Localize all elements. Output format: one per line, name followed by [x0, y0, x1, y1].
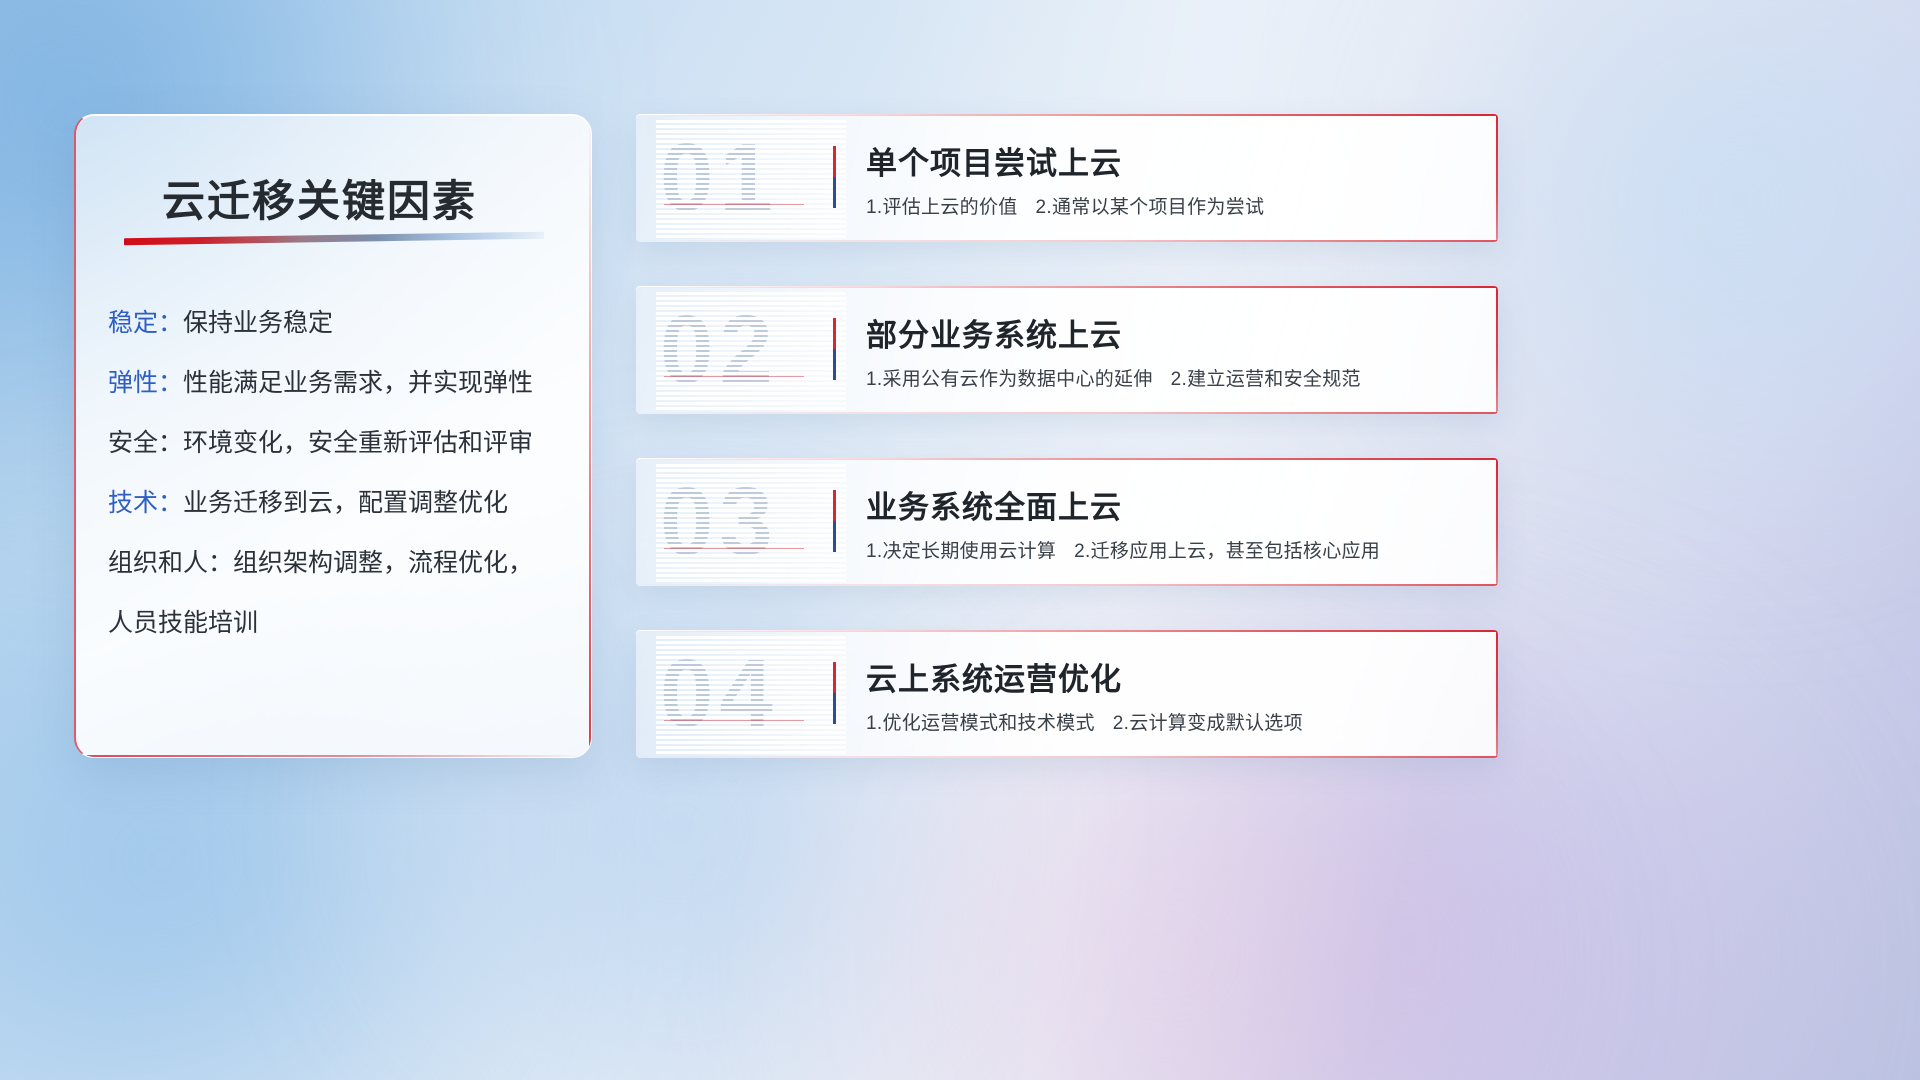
list-item-label: 弹性：	[108, 369, 183, 397]
stage-card[interactable]: 04 云上系统运营优化 1.优化运营模式和技术模式2.云计算变成默认选项	[636, 630, 1498, 758]
list-item-label: 技术：	[108, 489, 183, 517]
accent-bar-red	[833, 662, 836, 693]
list-item-text: 保持业务稳定	[183, 309, 333, 337]
list-item: 组织和人：组织架构调整，流程优化，	[108, 551, 573, 576]
list-item: 安全：环境变化，安全重新评估和评审	[108, 431, 573, 456]
title-underline-accent	[124, 232, 544, 246]
stage-number-red-line	[664, 152, 804, 153]
key-factors-panel: 云迁移关键因素 稳定：保持业务稳定 弹性：性能满足业务需求，并实现弹性 安全：环…	[74, 114, 592, 758]
stage-point: 2.建立运营和安全规范	[1171, 369, 1361, 390]
stage-point: 1.优化运营模式和技术模式	[866, 713, 1095, 734]
stage-point: 2.迁移应用上云，甚至包括核心应用	[1074, 541, 1380, 562]
page-title: 云迁移关键因素	[162, 167, 477, 229]
accent-bar	[833, 490, 836, 552]
card-bottom-accent	[636, 756, 1498, 758]
stage-point: 1.评估上云的价值	[866, 197, 1018, 218]
accent-bar	[833, 318, 836, 380]
stage-number-red-line	[664, 204, 804, 205]
stage-number: 02	[660, 290, 779, 410]
stage-title: 业务系统全面上云	[866, 482, 1122, 527]
list-item-label: 组织和人：	[108, 549, 233, 577]
stage-title: 云上系统运营优化	[866, 654, 1122, 699]
stage-point: 2.通常以某个项目作为尝试	[1036, 197, 1265, 218]
card-bottom-accent	[636, 412, 1498, 414]
stage-number-red-line	[664, 668, 804, 669]
stage-card[interactable]: 01 单个项目尝试上云 1.评估上云的价值2.通常以某个项目作为尝试	[636, 114, 1498, 242]
accent-bar-red	[833, 146, 836, 177]
stage-number-badge: 02	[656, 290, 846, 410]
accent-bar-red	[833, 318, 836, 349]
stage-card[interactable]: 03 业务系统全面上云 1.决定长期使用云计算2.迁移应用上云，甚至包括核心应用	[636, 458, 1498, 586]
accent-bar-blue	[833, 693, 836, 724]
accent-bar	[833, 146, 836, 208]
stage-number: 04	[660, 634, 779, 754]
list-item-text: 环境变化，安全重新评估和评审	[183, 429, 533, 457]
accent-bar-red	[833, 490, 836, 521]
list-item: 技术：业务迁移到云，配置调整优化	[108, 491, 573, 516]
stage-card[interactable]: 02 部分业务系统上云 1.采用公有云作为数据中心的延伸2.建立运营和安全规范	[636, 286, 1498, 414]
list-item-label: 稳定：	[108, 309, 183, 337]
accent-bar	[833, 662, 836, 724]
stage-number-red-line	[664, 324, 804, 325]
list-item-text: 性能满足业务需求，并实现弹性	[183, 369, 533, 397]
stage-title: 单个项目尝试上云	[866, 138, 1122, 183]
stage-points: 1.评估上云的价值2.通常以某个项目作为尝试	[866, 192, 1264, 219]
key-factors-list: 稳定：保持业务稳定 弹性：性能满足业务需求，并实现弹性 安全：环境变化，安全重新…	[108, 311, 573, 636]
accent-bar-blue	[833, 349, 836, 380]
list-item-text: 人员技能培训	[108, 609, 258, 637]
stage-points: 1.优化运营模式和技术模式2.云计算变成默认选项	[866, 708, 1303, 735]
stage-points: 1.采用公有云作为数据中心的延伸2.建立运营和安全规范	[866, 364, 1361, 391]
stage-points: 1.决定长期使用云计算2.迁移应用上云，甚至包括核心应用	[866, 536, 1380, 563]
accent-bar-blue	[833, 177, 836, 208]
stage-point: 2.云计算变成默认选项	[1113, 713, 1303, 734]
stage-number: 03	[660, 462, 779, 582]
stage-number-red-line	[664, 720, 804, 721]
card-bottom-accent	[636, 240, 1498, 242]
list-item: 弹性：性能满足业务需求，并实现弹性	[108, 371, 573, 396]
stage-number: 01	[660, 118, 779, 238]
stage-number-badge: 03	[656, 462, 846, 582]
stage-point: 1.采用公有云作为数据中心的延伸	[866, 369, 1153, 390]
list-item-text: 组织架构调整，流程优化，	[233, 549, 533, 577]
accent-bar-blue	[833, 521, 836, 552]
stage-cards-list: 01 单个项目尝试上云 1.评估上云的价值2.通常以某个项目作为尝试 02 部分…	[636, 114, 1498, 758]
stage-point: 1.决定长期使用云计算	[866, 541, 1056, 562]
list-item: 稳定：保持业务稳定	[108, 311, 573, 336]
stage-number-badge: 01	[656, 118, 846, 238]
stage-number-badge: 04	[656, 634, 846, 754]
stage-title: 部分业务系统上云	[866, 310, 1122, 355]
list-item-label: 安全：	[108, 429, 183, 457]
card-bottom-accent	[636, 584, 1498, 586]
list-item: 人员技能培训	[108, 611, 573, 636]
stage-number-red-line	[664, 548, 804, 549]
list-item-text: 业务迁移到云，配置调整优化	[183, 489, 508, 517]
stage-number-red-line	[664, 496, 804, 497]
stage-number-red-line	[664, 376, 804, 377]
